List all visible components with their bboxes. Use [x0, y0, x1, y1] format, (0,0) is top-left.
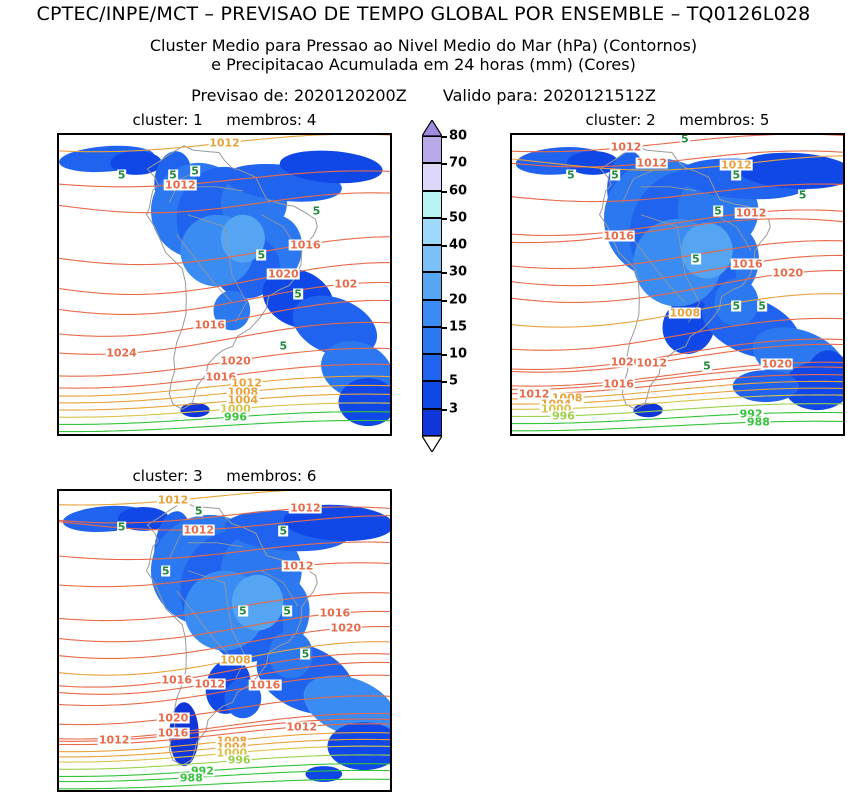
colorbar-segment [422, 354, 442, 381]
x-tick [225, 790, 227, 792]
y-tick [57, 491, 59, 493]
panel-1-cluster-label: cluster: [133, 111, 189, 129]
x-tick [188, 434, 190, 436]
y-tick [510, 394, 512, 396]
x-tick [714, 434, 716, 436]
precip-contour-label: 5 [168, 169, 178, 180]
cluster-panel-2: cluster: 2 membros: 5 101210121012101210… [510, 133, 845, 436]
contour-label: 1020 [760, 358, 793, 369]
contour-label: 1012 [635, 358, 668, 369]
panel-2-cluster-value: 2 [646, 111, 656, 129]
precip-contour-label: 5 [312, 205, 322, 216]
colorbar-segment [422, 163, 442, 190]
panel-1-members-label: membros: [226, 111, 302, 129]
colorbar-tick [442, 136, 447, 138]
colorbar-segment [422, 327, 442, 354]
colorbar-segment [422, 409, 442, 436]
subtitle-line-2: e Precipitacao Acumulada em 24 horas (mm… [0, 55, 847, 74]
map-plot-1[interactable]: 1012101210161020102101610241020101610121… [57, 133, 392, 436]
y-tick [57, 255, 59, 257]
colorbar-value-label: 3 [449, 401, 458, 416]
colorbar-value-label: 70 [449, 156, 467, 171]
colorbar-segment [422, 381, 442, 408]
y-tick [57, 631, 59, 633]
y-tick [510, 434, 512, 436]
contour-label: 1012 [285, 721, 318, 732]
contour-label: 1016 [602, 379, 635, 390]
precip-contour-label: 5 [680, 133, 690, 144]
valid-label: Valido para: [443, 86, 538, 105]
contour-label: 1016 [602, 230, 635, 241]
contour-label: 1016 [289, 239, 322, 250]
y-tick [57, 414, 59, 416]
precip-contour-label: 5 [194, 505, 204, 516]
y-tick [510, 275, 512, 277]
forecast-label: Previsao de: [191, 86, 289, 105]
x-tick [604, 434, 606, 436]
y-tick [57, 790, 59, 792]
colorbar-value-label: 30 [449, 265, 467, 280]
colorbar-tick [442, 409, 447, 411]
contour-label: 1016 [249, 679, 282, 690]
y-tick [510, 314, 512, 316]
map-plot-2[interactable]: 1012101210121012101610161020100810201012… [510, 133, 845, 436]
precip-contour-label: 5 [713, 205, 723, 216]
y-tick [57, 611, 59, 613]
map-artwork [512, 135, 843, 434]
x-tick [530, 434, 532, 436]
precip-contour-label: 5 [238, 605, 248, 616]
x-tick [372, 790, 374, 792]
x-tick [114, 790, 116, 792]
panel-1-cluster-value: 1 [193, 111, 203, 129]
colorbar-tick [442, 327, 447, 329]
colorbar-tick [442, 272, 447, 274]
colorbar-tick [442, 381, 447, 383]
colorbar-value-label: 40 [449, 238, 467, 253]
contour-label: 1020 [157, 712, 190, 723]
x-tick [788, 434, 790, 436]
contour-label: 1012 [735, 207, 768, 218]
y-tick [57, 591, 59, 593]
x-tick [225, 434, 227, 436]
x-tick [335, 790, 337, 792]
y-tick [57, 650, 59, 652]
contour-label: 1012 [182, 524, 215, 535]
colorbar-tick [442, 191, 447, 193]
panel-3-members-value: 6 [307, 467, 317, 485]
y-tick [510, 235, 512, 237]
y-tick [57, 730, 59, 732]
y-tick [510, 294, 512, 296]
contour-label: 102 [333, 279, 358, 290]
colorbar-min-arrow [422, 436, 442, 452]
x-tick [372, 434, 374, 436]
y-tick [510, 255, 512, 257]
y-tick [57, 511, 59, 513]
colorbar-value-label: 5 [449, 374, 458, 389]
colorbar-tick [442, 354, 447, 356]
precipitation-shading [515, 144, 843, 417]
x-tick [751, 434, 753, 436]
contour-label: 1020 [219, 355, 252, 366]
y-tick [57, 275, 59, 277]
precip-contour-label: 5 [279, 525, 289, 536]
panel-3-cluster-value: 3 [193, 467, 203, 485]
panel-2-cluster-label: cluster: [586, 111, 642, 129]
contour-label: 1008 [219, 654, 252, 665]
contour-label: 988 [179, 772, 204, 783]
y-tick [57, 571, 59, 573]
contour-label: 1012 [208, 137, 241, 148]
y-tick [510, 195, 512, 197]
y-tick [57, 690, 59, 692]
x-tick [114, 434, 116, 436]
colorbar-segment [422, 136, 442, 163]
contour-label: 1016 [193, 319, 226, 330]
y-tick [510, 354, 512, 356]
x-tick [151, 434, 153, 436]
subtitle-line-1: Cluster Medio para Pressao ao Nivel Medi… [0, 36, 847, 55]
x-tick [151, 790, 153, 792]
precip-contour-label: 5 [279, 341, 289, 352]
forecast-time: 2020120200Z [294, 86, 407, 105]
panel-1-title: cluster: 1 membros: 4 [57, 111, 392, 129]
precip-contour-label: 5 [732, 169, 742, 180]
precip-contour-label: 5 [691, 253, 701, 264]
colorbar-value-label: 60 [449, 183, 467, 198]
y-tick [57, 394, 59, 396]
panel-2-members-label: membros: [679, 111, 755, 129]
forecast-time-line: Previsao de: 2020120200Z Valido para: 20… [0, 86, 847, 105]
y-tick [57, 334, 59, 336]
x-tick [641, 434, 643, 436]
y-tick [57, 710, 59, 712]
contour-label: 1012 [289, 503, 322, 514]
colorbar-value-label: 80 [449, 129, 467, 144]
chart-subtitle: Cluster Medio para Pressao ao Nivel Medi… [0, 36, 847, 74]
panel-2-title: cluster: 2 membros: 5 [510, 111, 845, 129]
valid-time: 2020121512Z [543, 86, 656, 105]
precip-contour-label: 5 [566, 169, 576, 180]
y-tick [510, 414, 512, 416]
colorbar-tick [442, 218, 447, 220]
page-title: CPTEC/INPE/MCT – PREVISAO DE TEMPO GLOBA… [0, 3, 847, 25]
panel-2-members-value: 5 [760, 111, 770, 129]
colorbar-segment [422, 272, 442, 299]
y-tick [57, 551, 59, 553]
colorbar-value-label: 10 [449, 347, 467, 362]
contour-label: 1012 [282, 561, 315, 572]
x-tick [567, 434, 569, 436]
y-tick [510, 334, 512, 336]
y-tick [57, 374, 59, 376]
y-tick [57, 750, 59, 752]
contour-label: 996 [227, 755, 252, 766]
colorbar-segment [422, 245, 442, 272]
y-tick [57, 235, 59, 237]
precip-contour-label: 5 [732, 301, 742, 312]
chart-header: CPTEC/INPE/MCT – PREVISAO DE TEMPO GLOBA… [0, 0, 847, 105]
x-tick [678, 434, 680, 436]
contour-label: 1012 [98, 735, 131, 746]
y-tick [510, 175, 512, 177]
panel-3-members-label: membros: [226, 467, 302, 485]
contour-label: 1024 [105, 348, 138, 359]
y-tick [57, 135, 59, 137]
y-tick [510, 135, 512, 137]
precip-contour-label: 5 [702, 361, 712, 372]
contour-label: 1020 [330, 622, 363, 633]
precip-contour-label: 5 [117, 169, 127, 180]
colorbar-segment [422, 300, 442, 327]
x-tick [261, 434, 263, 436]
colorbar-tick [442, 245, 447, 247]
x-tick [77, 434, 79, 436]
contour-label: 1016 [319, 608, 352, 619]
map-plot-3[interactable]: 1012101210121012101610201008101610121016… [57, 489, 392, 792]
precipitation-colorbar[interactable]: 35101520304050607080 [422, 136, 442, 436]
precip-contour-label: 5 [610, 169, 620, 180]
contour-label: 1012 [610, 142, 643, 153]
x-tick [77, 790, 79, 792]
cluster-panel-3: cluster: 3 membros: 6 101210121012101210… [57, 489, 392, 792]
precip-contour-label: 5 [256, 249, 266, 260]
panel-3-cluster-label: cluster: [133, 467, 189, 485]
y-tick [57, 195, 59, 197]
colorbar-value-label: 50 [449, 210, 467, 225]
precip-contour-label: 5 [190, 165, 200, 176]
colorbar-max-arrow [422, 120, 442, 136]
panel-1-members-value: 4 [307, 111, 317, 129]
precip-contour-label: 5 [798, 189, 808, 200]
colorbar-tick [442, 300, 447, 302]
contour-label: 1016 [157, 727, 190, 738]
y-tick [510, 374, 512, 376]
precip-contour-label: 5 [117, 521, 127, 532]
precip-contour-label: 5 [161, 565, 171, 576]
contour-label: 996 [223, 411, 248, 422]
y-tick [57, 175, 59, 177]
contour-label: 1016 [160, 675, 193, 686]
contour-label: 1008 [669, 307, 702, 318]
contour-label: 1016 [731, 258, 764, 269]
contour-label: 1012 [193, 678, 226, 689]
colorbar-segment [422, 191, 442, 218]
x-tick [825, 434, 827, 436]
panel-3-title: cluster: 3 membros: 6 [57, 467, 392, 485]
precip-contour-label: 5 [293, 289, 303, 300]
y-tick [57, 155, 59, 157]
contour-label: 1012 [635, 158, 668, 169]
contour-label: 1020 [772, 268, 805, 279]
x-tick [298, 790, 300, 792]
contour-label: 1020 [267, 269, 300, 280]
x-tick [298, 434, 300, 436]
contour-label: 988 [746, 417, 771, 428]
x-tick [188, 790, 190, 792]
y-tick [57, 434, 59, 436]
cluster-panel-1: cluster: 1 membros: 4 101210121016102010… [57, 133, 392, 436]
y-tick [510, 215, 512, 217]
y-tick [57, 531, 59, 533]
y-tick [57, 354, 59, 356]
x-tick [261, 790, 263, 792]
precip-contour-label: 5 [282, 605, 292, 616]
colorbar-value-label: 15 [449, 319, 467, 334]
precip-contour-label: 5 [301, 649, 311, 660]
colorbar-tick [442, 163, 447, 165]
y-tick [57, 670, 59, 672]
x-tick [335, 434, 337, 436]
y-tick [57, 215, 59, 217]
colorbar-value-label: 20 [449, 292, 467, 307]
y-tick [510, 155, 512, 157]
y-tick [57, 314, 59, 316]
colorbar-segment [422, 218, 442, 245]
y-tick [57, 294, 59, 296]
y-tick [57, 770, 59, 772]
contour-label: 996 [551, 410, 576, 421]
contour-label: 1012 [157, 495, 190, 506]
precip-contour-label: 5 [757, 301, 767, 312]
